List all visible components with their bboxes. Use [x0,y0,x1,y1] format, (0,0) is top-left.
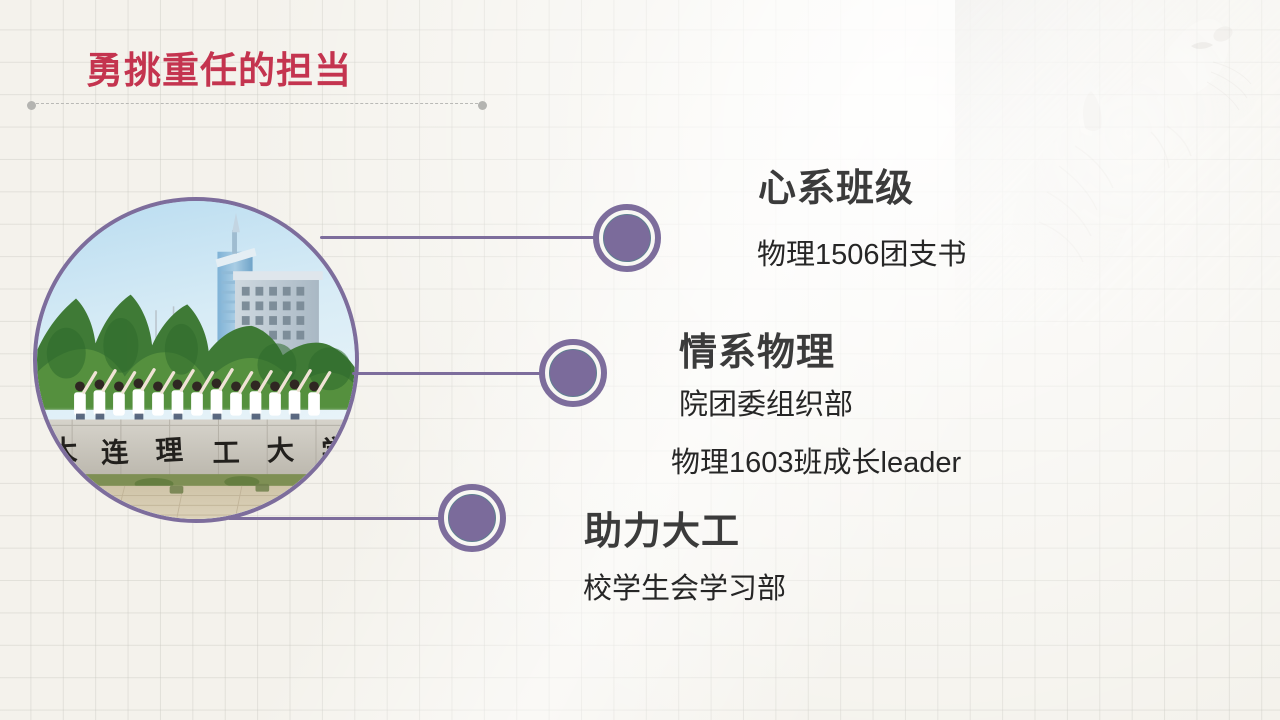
node-marker-1[interactable] [593,204,661,272]
item-line-2-1: 院团委组织部 [679,381,853,423]
svg-text:工: 工 [212,438,240,469]
svg-text:大: 大 [49,435,79,467]
connector-line-3 [228,517,446,520]
connector-line-1 [320,236,600,239]
item-heading-1: 心系班级 [758,157,914,212]
item-line-1-1: 物理1506团支书 [757,231,967,273]
item-heading-3: 助力大工 [584,500,740,555]
divider-dot-left-icon [27,101,36,110]
connector-line-2 [352,372,546,375]
item-line-3-1: 校学生会学习部 [583,565,786,607]
page-title: 勇挑重任的担当 [86,40,352,94]
svg-text:连: 连 [101,436,130,469]
svg-text:学: 学 [321,434,350,467]
item-line-2-2: 物理1603班成长leader [671,439,961,481]
slide-canvas: 勇挑重任的担当 [0,0,1280,720]
node-marker-2[interactable] [539,339,607,407]
item-heading-2: 情系物理 [679,321,835,376]
svg-text:大: 大 [266,435,296,467]
node-marker-3[interactable] [438,484,506,552]
howling-wolf-icon [955,0,1280,326]
divider-dot-right-icon [478,101,487,110]
title-divider [31,103,483,106]
svg-text:理: 理 [155,435,184,467]
campus-photo: 大 连 理 工 大 学 [33,197,359,523]
